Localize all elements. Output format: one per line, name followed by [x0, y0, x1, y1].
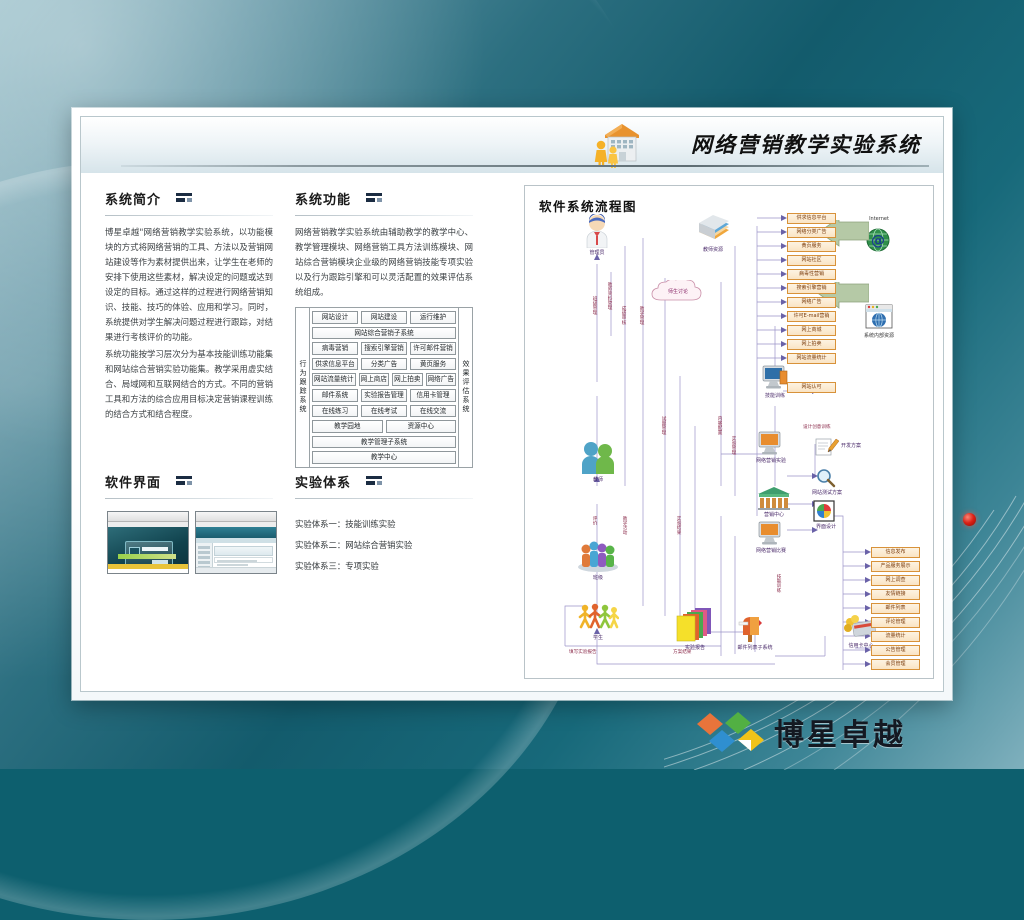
brand-name: 博星卓越	[774, 710, 906, 754]
matrix-cell[interactable]: 网站流量统计	[312, 373, 356, 386]
admin-person-icon	[581, 214, 613, 248]
feature-box[interactable]: 评论管理	[871, 617, 920, 628]
edge-label: 内容配置	[716, 416, 722, 434]
contest-monitor-icon	[757, 520, 785, 546]
actor-label-teaching-resource: 教师资源	[691, 246, 735, 253]
actor-label-student: 学生	[577, 634, 619, 641]
section-experiments: 实验体系 实验体系一：技能训练实验 实验体系二：网站综合营销实验 实验体系三：专…	[295, 472, 473, 577]
node-label-dev-plan: 开发方案	[841, 442, 861, 449]
login-user-input[interactable]	[142, 547, 168, 551]
main-ui-banner	[196, 527, 276, 538]
section-functions: 系统功能 网络营销教学实验系统由辅助教学的教学中心、教学管理模块、网络营销工具方…	[295, 189, 473, 300]
ui-title: 软件界面	[105, 472, 273, 491]
intro-paragraph-1: 博星卓越"网络营销教学实验系统，以功能模块的方式将网络营销的工具、方法以及营销网…	[105, 225, 273, 345]
feature-box[interactable]: 网上调查	[871, 575, 920, 586]
login-footer-bar	[108, 564, 188, 569]
function-matrix-table: 行为跟踪系统 网站设计网站建设运行维护 网站综合营销子系统 病毒营销搜索引擎营销…	[295, 307, 473, 468]
svg-text:@: @	[871, 233, 885, 249]
login-brand-strip	[118, 554, 176, 559]
tool-box[interactable]: 搜索引擎营销	[787, 283, 836, 294]
edge-label: 教师资料管理	[606, 282, 612, 310]
tool-box[interactable]: 供求信息平台	[787, 213, 836, 224]
flowchart-panel: 软件系统流程图	[524, 185, 934, 679]
screenshot-main-ui[interactable]	[195, 511, 277, 574]
actor-label-mail-subsystem: 邮件列表子系统	[731, 644, 779, 651]
main-panel-inner: 网络营销教学实验系统 系统简介 博星卓越"网络营销教学实验系统，以功能模块的方式…	[80, 116, 944, 692]
main-panel: 网络营销教学实验系统 系统简介 博星卓越"网络营销教学实验系统，以功能模块的方式…	[72, 108, 952, 700]
actor-label-admin: 管理员	[581, 249, 613, 256]
feature-box[interactable]: 公告管理	[871, 645, 920, 656]
school-building-icon	[589, 119, 651, 169]
feature-box[interactable]: 友情链接	[871, 589, 920, 600]
matrix-right-label-text: 效果评估系统	[460, 360, 471, 414]
node-label-ui-design: 界面设计	[805, 523, 847, 530]
intro-title: 系统简介	[105, 189, 273, 208]
plan-pencil-icon	[815, 436, 839, 456]
matrix-row: 邮件系统实验报告管理信用卡管理	[312, 389, 456, 402]
ui-title-text: 软件界面	[105, 476, 161, 491]
matrix-cell[interactable]: 黄页服务	[410, 358, 456, 371]
matrix-row: 教学园地资源中心	[312, 420, 456, 433]
main-ui-content-header	[214, 546, 273, 556]
matrix-cell[interactable]: 信用卡管理	[410, 389, 456, 402]
students-icon	[577, 602, 619, 632]
tool-box[interactable]: 黄页服务	[787, 241, 836, 252]
matrix-row: 病毒营销搜索引擎营销许可邮件营销	[312, 342, 456, 355]
node-label-internal-resource: 系统内部资源	[855, 332, 903, 339]
section-ui: 软件界面	[105, 472, 273, 499]
matrix-cell[interactable]: 分类广告	[361, 358, 407, 371]
matrix-cell[interactable]: 网络广告	[426, 373, 456, 386]
class-group-icon	[577, 538, 619, 572]
matrix-cell[interactable]: 网站综合营销子系统	[312, 327, 456, 340]
matrix-cell[interactable]: 供求信息平台	[312, 358, 358, 371]
matrix-cell[interactable]: 实验报告管理	[361, 389, 407, 402]
edge-label: 实验管理	[730, 436, 736, 454]
marketing-center-icon	[757, 486, 791, 510]
edge-label: 设计创意训练	[803, 424, 831, 430]
tool-box-approval[interactable]: 网站认可	[787, 382, 836, 393]
browser-window-icon	[865, 304, 893, 330]
functions-title: 系统功能	[295, 189, 473, 208]
edge-label: 评价	[591, 516, 597, 525]
feature-box[interactable]: 邮件列表	[871, 603, 920, 614]
actor-label-marketing-center: 营销中心	[751, 511, 797, 518]
matrix-row: 网站综合营销子系统	[312, 327, 456, 340]
matrix-cell[interactable]: 教学园地	[312, 420, 383, 433]
teachers-icon	[579, 438, 617, 474]
actor-label-marketing-experiment: 网络营销实验	[747, 457, 795, 464]
actor-label-discussion: 师生讨论	[649, 288, 707, 295]
marketing-monitor-icon	[757, 430, 785, 456]
feature-box[interactable]: 信息发布	[871, 547, 920, 558]
decorative-red-dot	[963, 513, 976, 526]
edge-label: 技能训练	[775, 574, 781, 592]
edge-label: 班级管理	[591, 296, 597, 314]
actor-label-contest: 网络营销比赛	[747, 547, 795, 554]
screenshot-titlebar	[196, 512, 276, 522]
matrix-cell[interactable]: 教学中心	[312, 451, 456, 464]
matrix-cell[interactable]: 在线交流	[410, 405, 456, 418]
edge-label: 教学活动	[621, 516, 627, 534]
tool-box[interactable]: 网上拍卖	[787, 339, 836, 350]
matrix-cell[interactable]: 病毒营销	[312, 342, 358, 355]
functions-title-text: 系统功能	[295, 193, 351, 208]
intro-title-text: 系统简介	[105, 193, 161, 208]
brand-logo: 博星卓越	[696, 706, 916, 758]
list-item: 实验体系二：网站综合营销实验	[295, 535, 473, 556]
intro-divider	[105, 215, 273, 216]
design-palette-icon	[813, 500, 835, 522]
matrix-cell[interactable]: 许可邮件营销	[410, 342, 456, 355]
functions-divider	[295, 215, 473, 216]
edge-label: 方案结果	[673, 649, 691, 655]
matrix-cell[interactable]: 邮件系统	[312, 389, 358, 402]
experiments-title-text: 实验体系	[295, 476, 351, 491]
main-ui-content-area	[214, 557, 273, 563]
actor-label-teacher: 教师	[579, 476, 617, 483]
tool-box[interactable]: 网上商城	[787, 325, 836, 336]
matrix-cell[interactable]: 在线考试	[361, 405, 407, 418]
feature-box[interactable]: 会员管理	[871, 659, 920, 670]
tool-box[interactable]: 病毒性营销	[787, 269, 836, 280]
main-ui-sidebar[interactable]	[196, 543, 213, 568]
tool-box[interactable]: 网站社区	[787, 255, 836, 266]
functions-paragraph: 网络营销教学实验系统由辅助教学的教学中心、教学管理模块、网络营销工具方法训练模块…	[295, 225, 473, 300]
mailbox-icon	[737, 612, 767, 642]
section-marker-icon	[176, 476, 192, 485]
page-title: 网络营销教学实验系统	[691, 129, 921, 159]
screenshot-titlebar	[108, 512, 188, 522]
tool-box[interactable]: 许可E-mail营销	[787, 311, 836, 322]
panel-header: 网络营销教学实验系统	[81, 117, 943, 173]
main-ui-canvas	[196, 527, 276, 573]
tool-box[interactable]: 网站流量统计	[787, 353, 836, 364]
list-item: 实验体系三：专项实验	[295, 556, 473, 577]
training-monitor-icon	[761, 364, 789, 390]
ui-divider	[105, 498, 273, 499]
logo-diamonds-icon	[696, 710, 768, 754]
matrix-cell[interactable]: 运行维护	[410, 311, 456, 324]
section-marker-icon	[366, 193, 382, 202]
matrix-cell[interactable]: 教学管理子系统	[312, 436, 456, 449]
tool-box[interactable]: 网络广告	[787, 297, 836, 308]
matrix-left-label: 行为跟踪系统	[296, 308, 310, 467]
matrix-row: 教学中心	[312, 451, 456, 464]
actor-label-skills-training: 技能训练	[753, 392, 797, 399]
experiments-divider	[295, 498, 473, 499]
node-label-test-plan: 网站测试方案	[805, 489, 849, 496]
matrix-cell[interactable]: 资源中心	[386, 420, 457, 433]
edge-label: 成绩审核	[620, 306, 626, 324]
report-files-icon	[673, 606, 717, 642]
screenshot-login[interactable]	[107, 511, 189, 574]
section-marker-icon	[366, 476, 382, 485]
magnifier-icon	[815, 468, 837, 488]
feature-box[interactable]: 流量统计	[871, 631, 920, 642]
matrix-rows: 网站设计网站建设运行维护 网站综合营销子系统 病毒营销搜索引擎营销许可邮件营销 …	[310, 308, 458, 467]
experiments-title: 实验体系	[295, 472, 473, 491]
experiments-list: 实验体系一：技能训练实验 实验体系二：网站综合营销实验 实验体系三：专项实验	[295, 514, 473, 577]
matrix-left-label-text: 行为跟踪系统	[297, 360, 308, 414]
matrix-row: 网站设计网站建设运行维护	[312, 311, 456, 324]
intro-paragraph-2: 系统功能按学习层次分为基本技能训练功能集和网站综合营销实验功能集。教学采用虚实结…	[105, 347, 273, 422]
tool-box[interactable]: 网络分类广告	[787, 227, 836, 238]
section-intro: 系统简介 博星卓越"网络营销教学实验系统，以功能模块的方式将网络营销的工具、方法…	[105, 189, 273, 422]
matrix-cell[interactable]: 网站建设	[361, 311, 407, 324]
edge-label: 试题管理	[660, 416, 666, 434]
matrix-cell[interactable]: 搜索引擎营销	[361, 342, 407, 355]
books-icon	[695, 214, 731, 244]
edge-label: 实验结果	[675, 516, 681, 534]
matrix-row: 在线练习在线考试在线交流	[312, 405, 456, 418]
matrix-row: 供求信息平台分类广告黄页服务	[312, 358, 456, 371]
matrix-cell[interactable]: 网上拍卖	[392, 373, 422, 386]
main-ui-statusbar	[196, 567, 276, 573]
matrix-row: 网站流量统计网上商店网上拍卖网络广告	[312, 373, 456, 386]
matrix-cell[interactable]: 网站设计	[312, 311, 358, 324]
function-matrix: 行为跟踪系统 网站设计网站建设运行维护 网站综合营销子系统 病毒营销搜索引擎营销…	[295, 307, 473, 468]
header-rule	[121, 165, 929, 167]
matrix-row: 教学管理子系统	[312, 436, 456, 449]
matrix-right-label: 效果评估系统	[458, 308, 472, 467]
edge-label: 教学管理	[638, 306, 644, 324]
section-marker-icon	[176, 193, 192, 202]
feature-box[interactable]: 产品服务展示	[871, 561, 920, 572]
matrix-cell[interactable]: 在线练习	[312, 405, 358, 418]
login-canvas	[108, 527, 188, 569]
actor-label-class: 班级	[577, 574, 619, 581]
matrix-cell[interactable]: 网上商店	[359, 373, 389, 386]
list-item: 实验体系一：技能训练实验	[295, 514, 473, 535]
edge-label: 填写实验报告	[569, 649, 597, 655]
